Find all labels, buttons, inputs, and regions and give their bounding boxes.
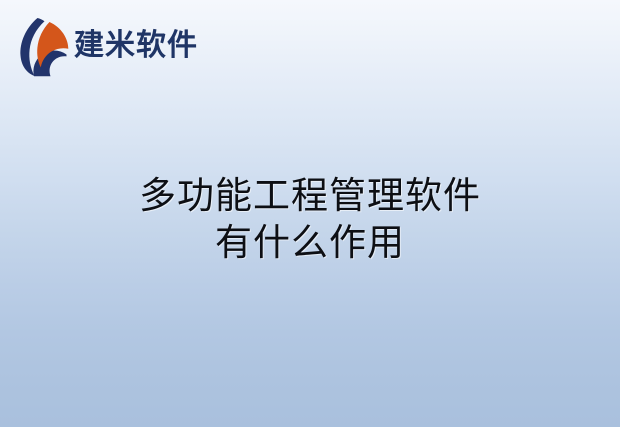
headline: 多功能工程管理软件 有什么作用 bbox=[0, 172, 620, 266]
banner-canvas: 建米软件 多功能工程管理软件 有什么作用 bbox=[0, 0, 620, 427]
headline-line-2: 有什么作用 bbox=[0, 219, 620, 266]
brand-logo[interactable]: 建米软件 bbox=[17, 16, 198, 78]
jianmi-leaf-mark-icon bbox=[17, 17, 69, 77]
headline-line-1: 多功能工程管理软件 bbox=[0, 172, 620, 219]
brand-wordmark: 建米软件 bbox=[74, 31, 198, 63]
